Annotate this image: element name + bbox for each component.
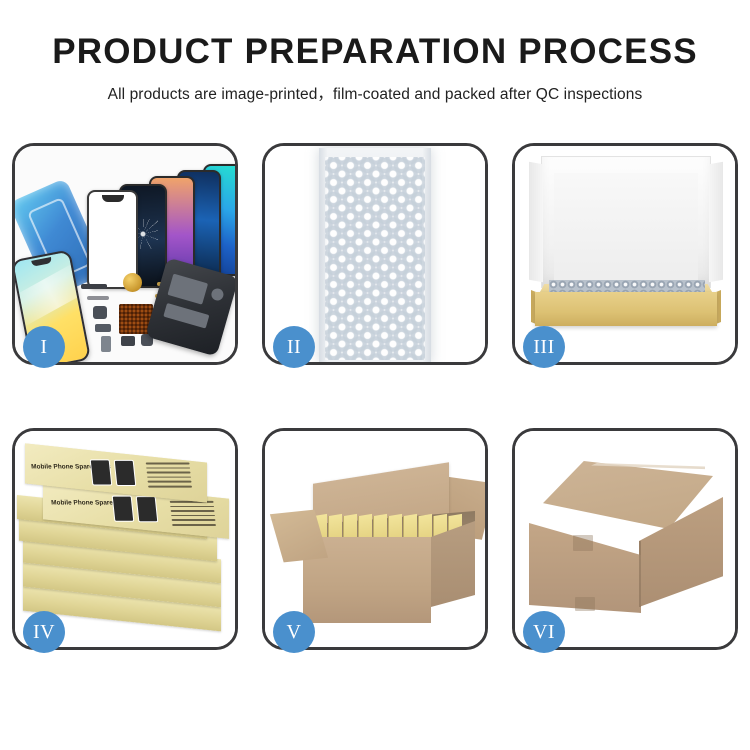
carton-tab-upper — [573, 535, 593, 551]
speaker-mesh-icon — [123, 273, 142, 292]
antenna-cable-icon — [87, 296, 109, 300]
sim-tray-icon — [121, 336, 135, 346]
wrap-edge-left — [319, 148, 328, 362]
wrap-edge-right — [422, 148, 431, 362]
step-badge-6: VI — [523, 611, 565, 653]
step-panel-4[interactable]: Mobile Phone Spare Parts Mobile P — [12, 428, 238, 650]
retail-box-specs-2 — [170, 501, 217, 529]
process-step-grid: I II III — [12, 143, 738, 650]
phone-image-2a — [112, 496, 135, 522]
step-panel-2[interactable]: II — [262, 143, 488, 365]
phone-image-1a — [90, 459, 113, 485]
retail-box-specs-1 — [146, 462, 193, 490]
step-panel-5[interactable]: V — [262, 428, 488, 650]
bubble-pattern — [325, 157, 425, 360]
open-carton-icon — [279, 465, 479, 637]
step-badge-4: IV — [23, 611, 65, 653]
page-title: PRODUCT PREPARATION PROCESS — [0, 34, 750, 69]
box-front-face — [535, 292, 717, 326]
sealed-carton-icon — [529, 457, 727, 637]
connector-strip-icon — [81, 284, 107, 289]
battery-connector-icon — [101, 336, 111, 352]
step-badge-2: II — [273, 326, 315, 368]
lid-inner-face — [554, 173, 698, 287]
step-badge-5: V — [273, 611, 315, 653]
step-panel-3[interactable]: III — [512, 143, 738, 365]
step-badge-1: I — [23, 326, 65, 368]
carton-tab-lower — [575, 597, 595, 611]
bubble-wrap-sheet-icon — [319, 148, 431, 362]
vibrator-icon — [95, 324, 111, 332]
inner-box-icon — [535, 274, 717, 326]
phone-image-1b — [114, 460, 137, 486]
page-header: PRODUCT PREPARATION PROCESS All products… — [0, 0, 750, 104]
step-panel-6[interactable]: VI — [512, 428, 738, 650]
box-lid-open-icon — [541, 156, 711, 288]
phone-image-2b — [136, 496, 159, 522]
camera-module-icon — [93, 306, 107, 319]
page-subtitle: All products are image-printed，film-coat… — [0, 82, 750, 104]
step-badge-3: III — [523, 326, 565, 368]
phone-screen-fan — [87, 164, 235, 284]
carton-seam-vertical — [639, 541, 641, 607]
step-panel-1[interactable]: I — [12, 143, 238, 365]
